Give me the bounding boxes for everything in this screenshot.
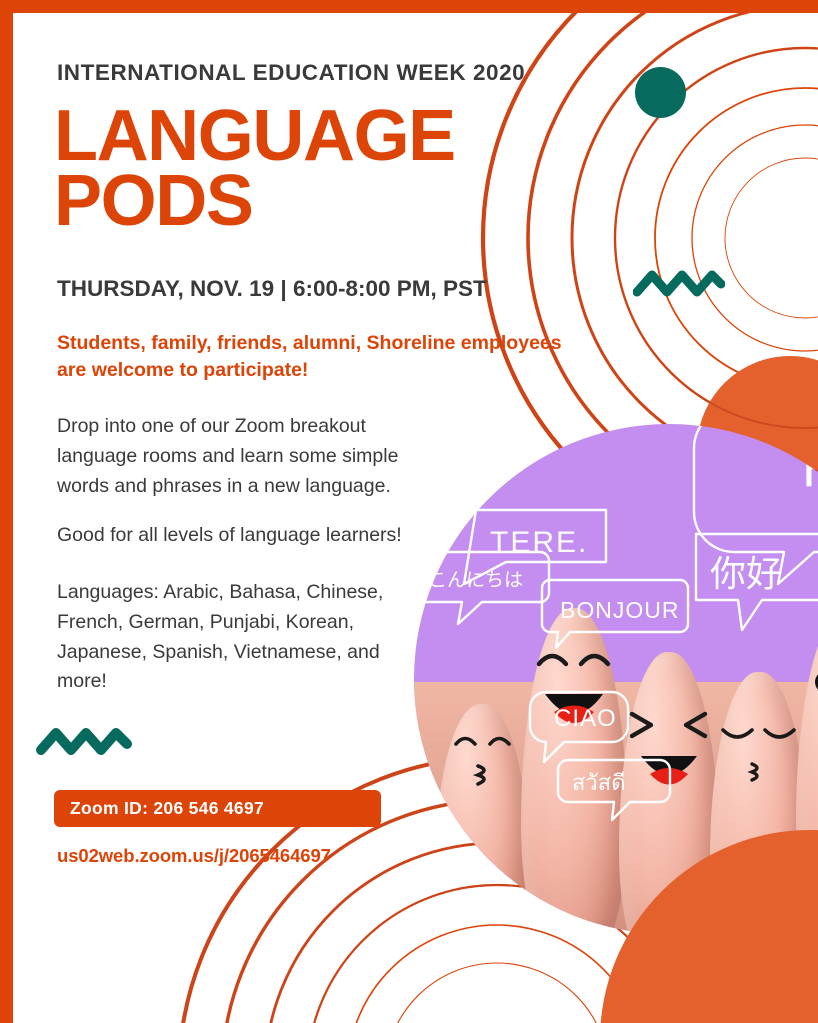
poster-content: INTERNATIONAL EDUCATION WEEK 2020 LANGUA… <box>0 0 818 1023</box>
frame-left-border <box>0 0 13 1023</box>
event-series-label: INTERNATIONAL EDUCATION WEEK 2020 <box>57 60 525 86</box>
description-paragraph-2: Good for all levels of language learners… <box>57 521 457 551</box>
page-title-line-1: LANGUAGE <box>54 104 455 169</box>
event-datetime: THURSDAY, NOV. 19 | 6:00-8:00 PM, PST <box>57 276 487 302</box>
frame-top-border <box>0 0 818 13</box>
description-paragraph-1: Drop into one of our Zoom breakout langu… <box>57 412 449 501</box>
page-title: LANGUAGE PODS <box>54 104 455 234</box>
poster-canvas: こんにちは TERE. BONJOUR 你好 HELLO CIAO สวัสดี <box>0 0 818 1023</box>
zoom-id-label: Zoom ID: 206 546 4697 <box>54 798 264 819</box>
audience-statement: Students, family, friends, alumni, Shore… <box>57 330 562 385</box>
zoom-id-badge: Zoom ID: 206 546 4697 <box>54 790 381 827</box>
zoom-link[interactable]: us02web.zoom.us/j/2065464697 <box>57 845 331 867</box>
languages-paragraph: Languages: Arabic, Bahasa, Chinese, Fren… <box>57 578 407 697</box>
page-title-line-2: PODS <box>54 169 455 234</box>
